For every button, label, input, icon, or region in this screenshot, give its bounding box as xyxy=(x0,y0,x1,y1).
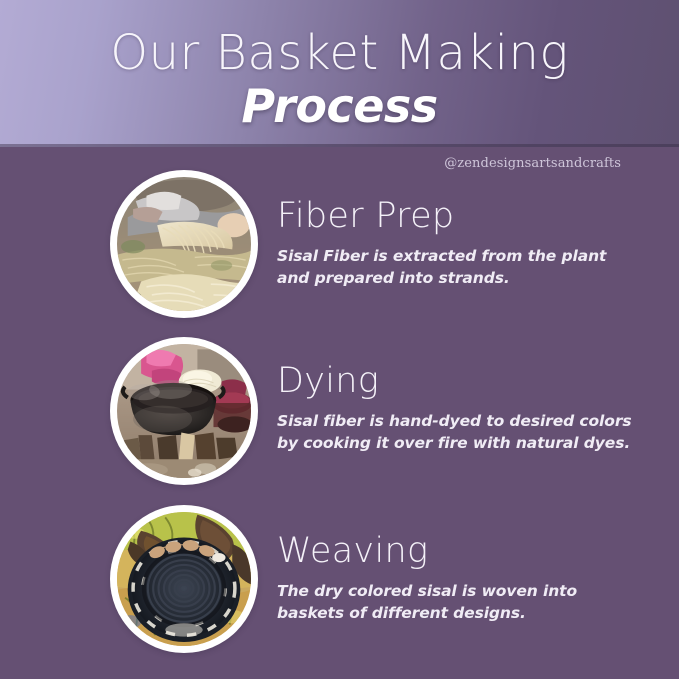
step-title: Weaving xyxy=(277,529,637,573)
step-text-block: Fiber Prep Sisal Fiber is extracted from… xyxy=(277,194,637,289)
header-banner: Our Basket Making Process xyxy=(0,0,679,147)
step-title: Fiber Prep xyxy=(277,194,637,238)
social-handle: @zendesignsartsandcrafts xyxy=(444,156,621,171)
page-title-line1: Our Basket Making xyxy=(0,26,679,80)
dying-photo xyxy=(117,344,251,478)
fiber-prep-photo xyxy=(117,177,251,311)
weaving-photo xyxy=(117,512,251,646)
step-text-block: Dying Sisal fiber is hand-dyed to desire… xyxy=(277,359,637,454)
step-description: Sisal fiber is hand-dyed to desired colo… xyxy=(277,410,637,454)
poster-canvas: Our Basket Making Process @zendesignsart… xyxy=(0,0,679,679)
step-thumbnail-ring xyxy=(110,170,258,318)
step-description: Sisal Fiber is extracted from the plant … xyxy=(277,245,637,289)
step-text-block: Weaving The dry colored sisal is woven i… xyxy=(277,529,637,624)
step-description: The dry colored sisal is woven into bask… xyxy=(277,580,637,624)
step-thumbnail-ring xyxy=(110,337,258,485)
step-title: Dying xyxy=(277,359,637,403)
step-thumbnail-ring xyxy=(110,505,258,653)
page-title-line2: Process xyxy=(0,80,679,132)
